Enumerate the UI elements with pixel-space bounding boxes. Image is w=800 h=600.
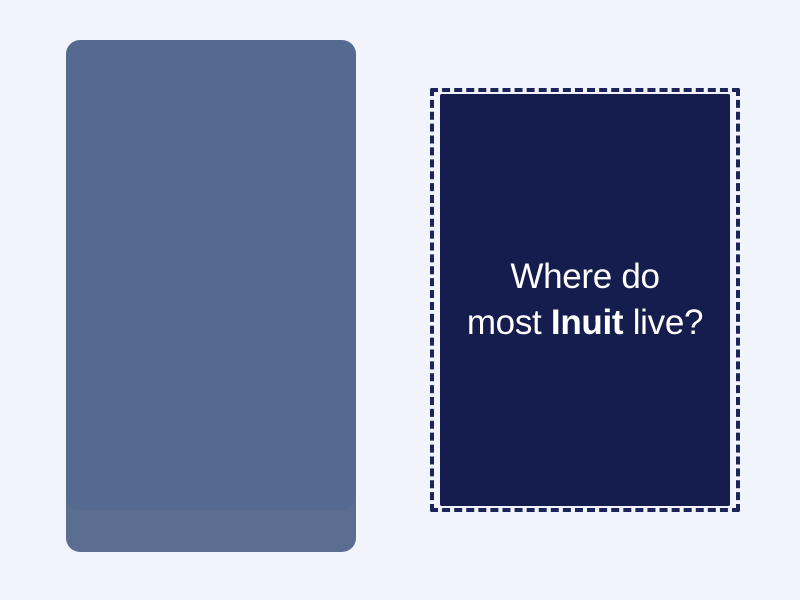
question-keyword: Inuit bbox=[551, 303, 623, 342]
card-deck[interactable] bbox=[66, 40, 356, 552]
flashcard-stage: Where do most Inuit live? bbox=[0, 0, 800, 600]
question-card-container[interactable]: Where do most Inuit live? bbox=[430, 88, 740, 512]
question-card[interactable]: Where do most Inuit live? bbox=[440, 94, 730, 506]
question-text: Where do most Inuit live? bbox=[467, 254, 703, 346]
question-line-2-pre: most bbox=[467, 303, 551, 342]
question-line-1: Where do bbox=[510, 257, 659, 296]
deck-top-card[interactable] bbox=[66, 40, 356, 510]
question-line-2-post: live? bbox=[623, 303, 703, 342]
